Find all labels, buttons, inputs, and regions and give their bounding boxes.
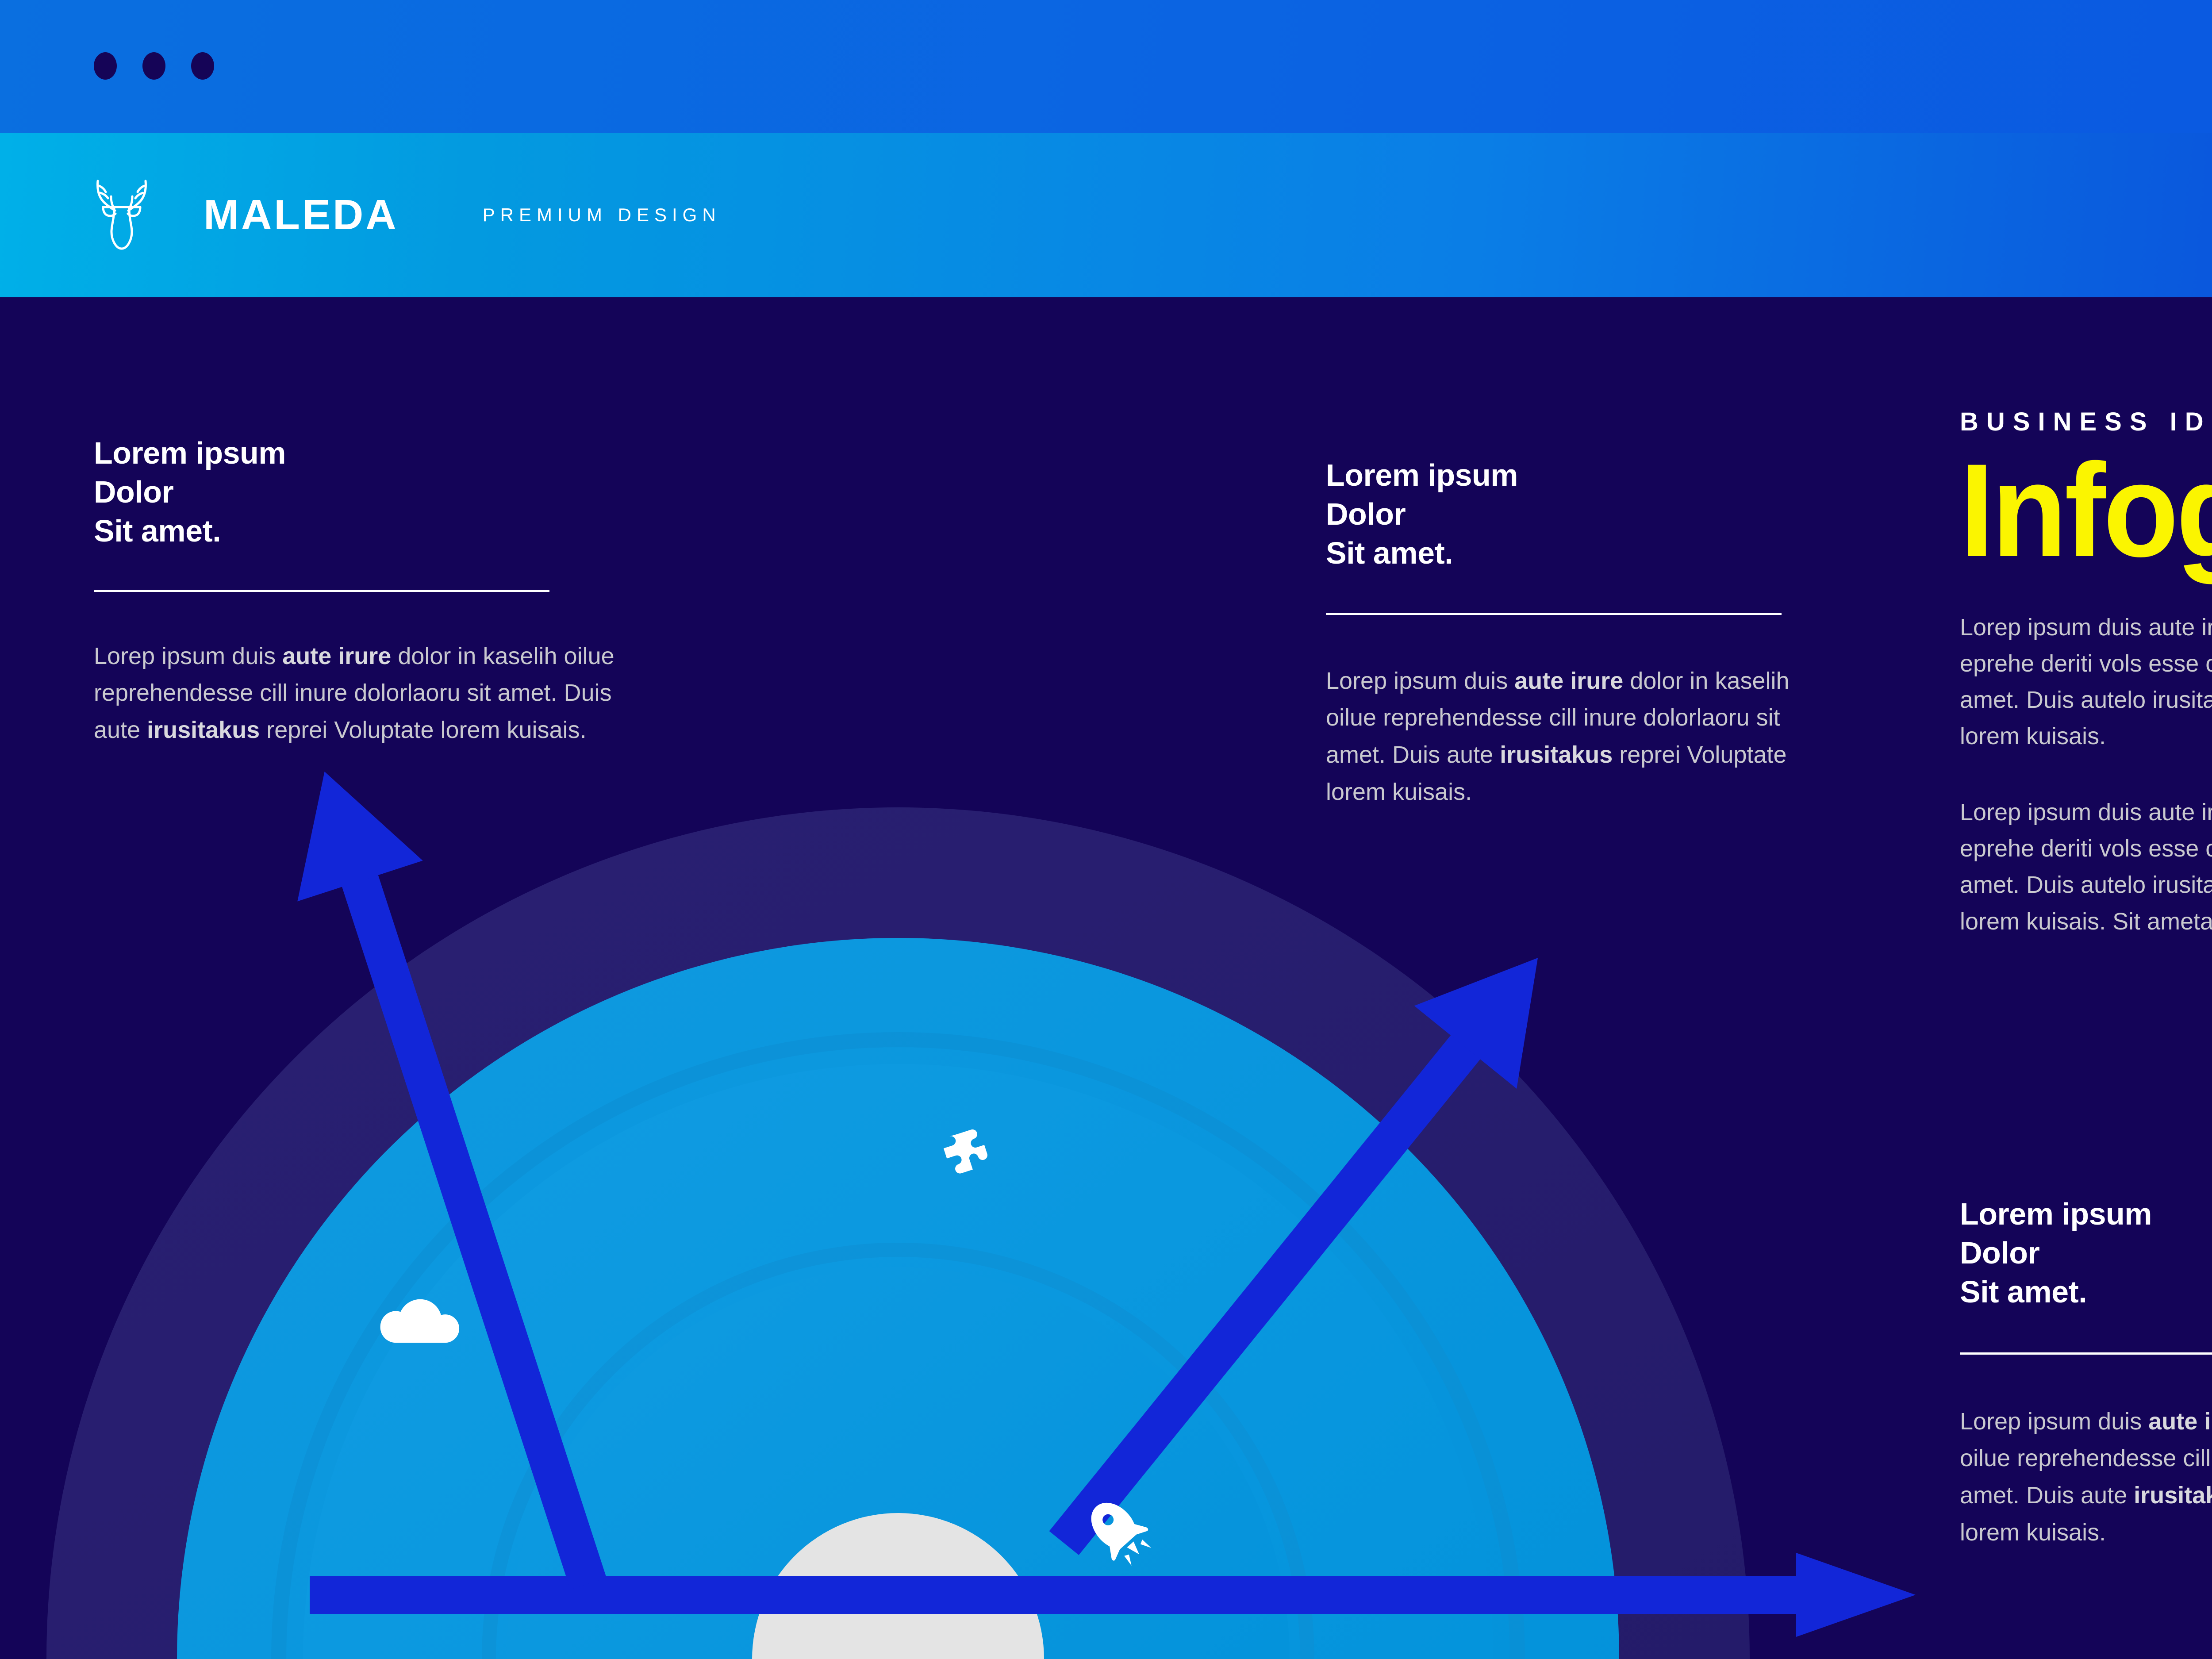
- brand-name: MALEDA: [204, 194, 399, 236]
- right-lower-text-block: Lorem ipsum Dolor Sit amet. Lorep ipsum …: [1960, 1194, 2212, 1551]
- page-title: Infographic: [1960, 449, 2212, 571]
- right-lower-body: Lorep ipsum duis aute irure dolor in kas…: [1960, 1403, 2212, 1551]
- left-text-block: Lorem ipsum Dolor Sit amet. Lorep ipsum …: [94, 434, 616, 749]
- navbar: MALEDA PREMIUM DESIGN: [0, 133, 2212, 297]
- right-hero-block: BUSINESS IDEA Infographic Lorep ipsum du…: [1960, 407, 2212, 940]
- right-paragraph-2: Lorep ipsum duis aute irure dolor in kau…: [1960, 794, 2212, 939]
- left-heading: Lorem ipsum Dolor Sit amet.: [94, 434, 616, 551]
- deer-head-icon: [88, 175, 155, 255]
- infographic-page: MALEDA PREMIUM DESIGN: [0, 0, 2212, 1659]
- right-lower-divider: [1960, 1352, 2212, 1355]
- window-controls: [94, 52, 214, 80]
- middle-text-block: Lorem ipsum Dolor Sit amet. Lorep ipsum …: [1326, 456, 1817, 810]
- brand-tagline: PREMIUM DESIGN: [483, 206, 721, 224]
- right-paragraphs: Lorep ipsum duis aute irure dolor in kau…: [1960, 609, 2212, 940]
- page-eyebrow: BUSINESS IDEA: [1960, 407, 2212, 437]
- window-dot-minimize-icon[interactable]: [142, 52, 165, 80]
- left-body: Lorep ipsum duis aute irure dolor in kas…: [94, 638, 616, 749]
- middle-heading: Lorem ipsum Dolor Sit amet.: [1326, 456, 1817, 573]
- window-dot-close-icon[interactable]: [94, 52, 117, 80]
- right-lower-heading: Lorem ipsum Dolor Sit amet.: [1960, 1194, 2212, 1312]
- middle-body: Lorep ipsum duis aute irure dolor in kas…: [1326, 663, 1817, 811]
- brand-area[interactable]: MALEDA PREMIUM DESIGN: [0, 175, 721, 255]
- middle-divider: [1326, 613, 1782, 615]
- window-dot-maximize-icon[interactable]: [191, 52, 214, 80]
- window-titlebar: [0, 0, 2212, 133]
- right-paragraph-1: Lorep ipsum duis aute irure dolor in kau…: [1960, 609, 2212, 754]
- left-divider: [94, 590, 549, 592]
